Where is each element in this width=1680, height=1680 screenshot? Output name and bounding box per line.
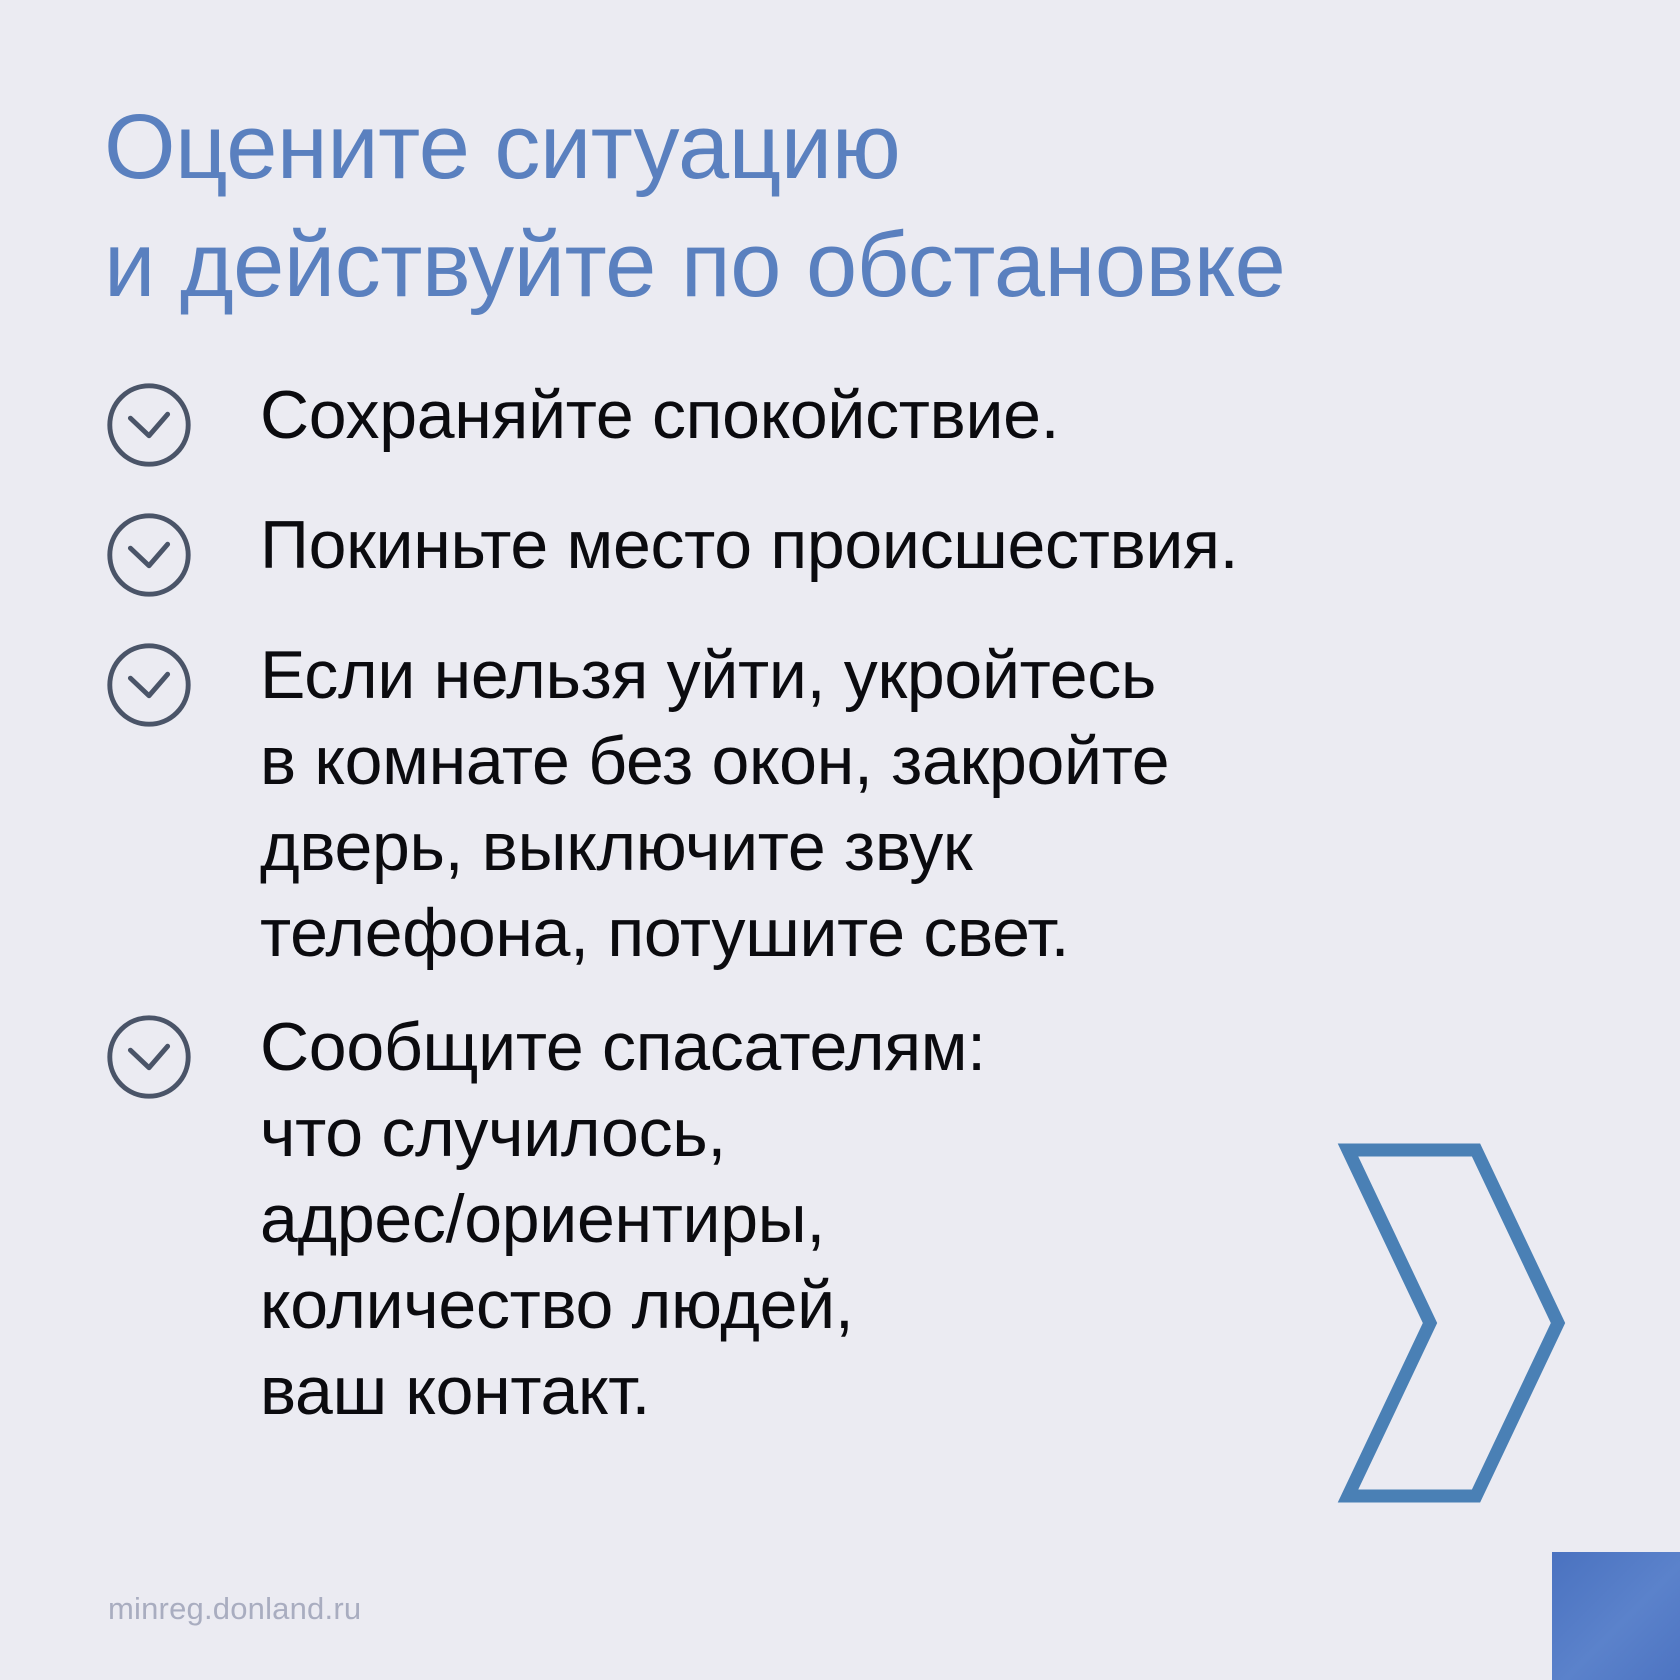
list-item: Если нельзя уйти, укройтесь в комнате бе… xyxy=(100,630,1500,976)
title-line-2: и действуйте по обстановке xyxy=(104,206,1604,324)
check-circle-icon xyxy=(100,1008,198,1106)
checklist: Сохраняйте спокойствие. Покиньте место п… xyxy=(100,370,1500,1460)
list-item-label: Покиньте место происшествия. xyxy=(198,500,1500,588)
list-item: Покиньте место происшествия. xyxy=(100,500,1500,604)
check-circle-icon xyxy=(100,506,198,604)
corner-square-decoration xyxy=(1552,1552,1680,1680)
poster-slide: Оцените ситуацию и действуйте по обстано… xyxy=(0,0,1680,1680)
title-line-1: Оцените ситуацию xyxy=(104,88,1604,206)
list-item: Сообщите спасателям: что случилось, адре… xyxy=(100,1002,1500,1434)
list-item-label: Если нельзя уйти, укройтесь в комнате бе… xyxy=(198,630,1500,976)
list-item-label: Сохраняйте спокойствие. xyxy=(198,370,1500,458)
footer-website-url: minreg.donland.ru xyxy=(108,1590,361,1628)
list-item: Сохраняйте спокойствие. xyxy=(100,370,1500,474)
check-circle-icon xyxy=(100,636,198,734)
check-circle-icon xyxy=(100,376,198,474)
page-title: Оцените ситуацию и действуйте по обстано… xyxy=(104,88,1604,324)
list-item-label: Сообщите спасателям: что случилось, адре… xyxy=(198,1002,1500,1434)
